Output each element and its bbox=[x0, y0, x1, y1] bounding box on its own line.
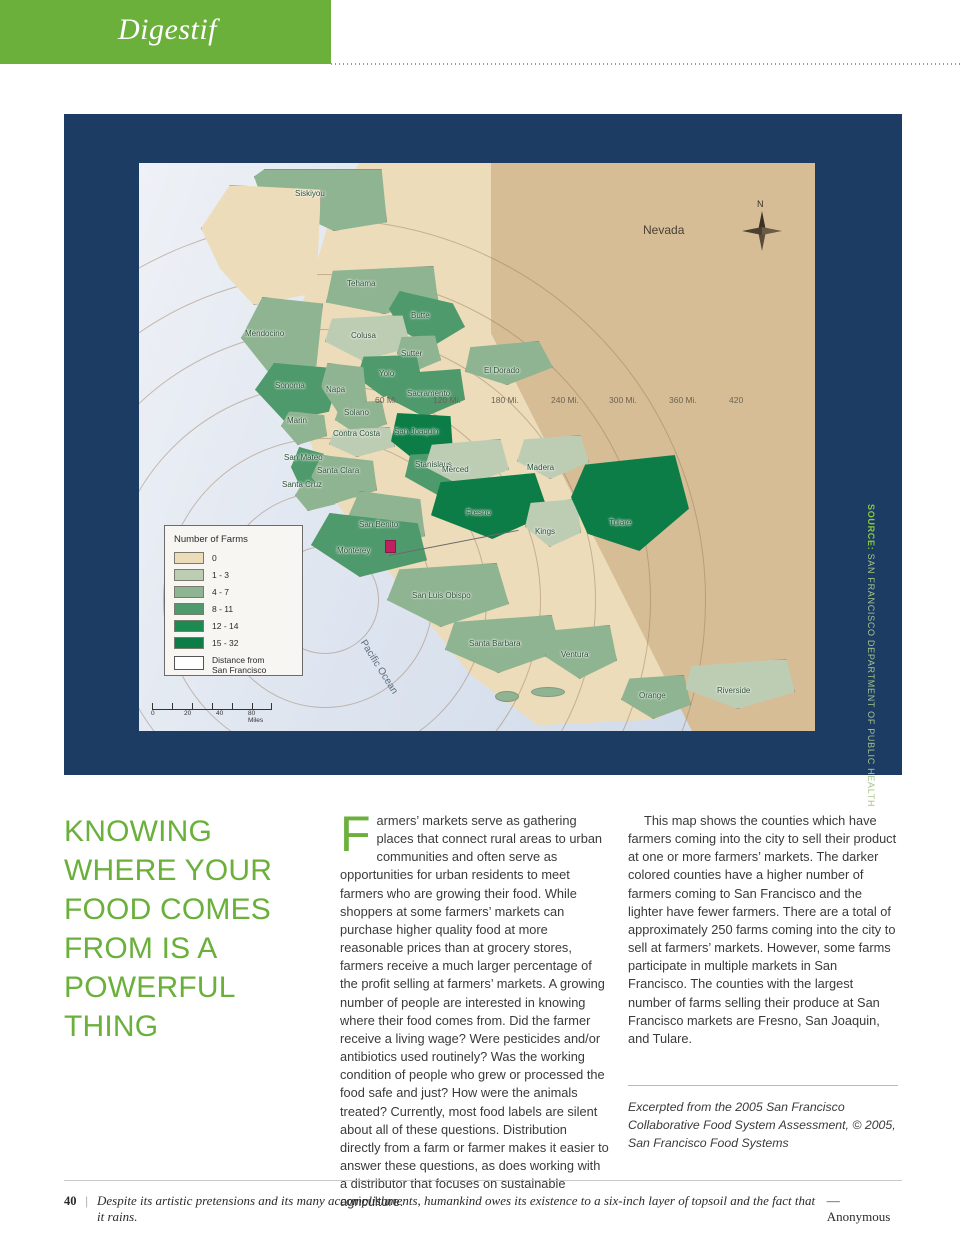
county-label-sonoma: Sonoma bbox=[275, 381, 305, 390]
compass-north-label: N bbox=[757, 199, 764, 209]
legend-row-0: 0 bbox=[174, 550, 293, 565]
page-footer: 40 | Despite its artistic pretensions an… bbox=[64, 1193, 902, 1225]
legend-label-4: 12 - 14 bbox=[212, 621, 238, 631]
page-header: Digestif bbox=[0, 0, 960, 70]
article-column-1: Farmers’ markets serve as gathering plac… bbox=[340, 812, 610, 1211]
island-channel-2 bbox=[531, 687, 565, 697]
legend-swatch-4 bbox=[174, 620, 204, 632]
legend-row-4: 12 - 14 bbox=[174, 618, 293, 633]
source-value: SAN FRANCISCO DEPARTMENT OF PUBLIC HEALT… bbox=[866, 550, 876, 807]
state-label-nevada: Nevada bbox=[643, 223, 684, 237]
header-dotted-rule bbox=[331, 63, 960, 65]
legend-label-0: 0 bbox=[212, 553, 217, 563]
legend-row-1: 1 - 3 bbox=[174, 567, 293, 582]
legend-row-3: 8 - 11 bbox=[174, 601, 293, 616]
county-label-santa-barbara: Santa Barbara bbox=[469, 639, 521, 648]
legend-row-2: 4 - 7 bbox=[174, 584, 293, 599]
ring-label-420: 420 bbox=[729, 395, 743, 405]
county-label-napa: Napa bbox=[326, 385, 345, 394]
source-key: SOURCE: bbox=[866, 504, 876, 550]
section-title: Digestif bbox=[118, 13, 217, 47]
ring-label-60: 60 Mi. bbox=[375, 395, 398, 405]
article-credit: Excerpted from the 2005 San Francisco Co… bbox=[628, 1099, 898, 1152]
footer-quote: Despite its artistic pretensions and its… bbox=[97, 1193, 822, 1225]
legend-swatch-3 bbox=[174, 603, 204, 615]
county-label-yolo: Yolo bbox=[379, 369, 394, 378]
county-label-butte: Butte bbox=[411, 311, 430, 320]
article-paragraph-2: This map shows the counties which have f… bbox=[628, 812, 898, 1048]
county-label-contra-costa: Contra Costa bbox=[333, 429, 380, 438]
legend-label-2: 4 - 7 bbox=[212, 587, 229, 597]
ring-label-240: 240 Mi. bbox=[551, 395, 579, 405]
county-label-marin: Marin bbox=[287, 416, 307, 425]
legend-swatch-2 bbox=[174, 586, 204, 598]
legend-row-distance: Distance from San Francisco bbox=[174, 656, 293, 676]
county-label-ventura: Ventura bbox=[561, 650, 589, 659]
scale-unit-label: 80 Miles bbox=[248, 710, 272, 724]
ring-label-360: 360 Mi. bbox=[669, 395, 697, 405]
legend-label-1: 1 - 3 bbox=[212, 570, 229, 580]
county-label-tehama: Tehama bbox=[347, 279, 375, 288]
map-legend: Number of Farms 0 1 - 3 4 - 7 8 - 11 12 … bbox=[164, 525, 303, 676]
article-paragraph-1: Farmers’ markets serve as gathering plac… bbox=[340, 812, 610, 1211]
county-label-orange: Orange bbox=[639, 691, 666, 700]
scale-bar-line bbox=[152, 703, 272, 710]
legend-swatch-1 bbox=[174, 569, 204, 581]
county-label-siskiyou: Siskiyou bbox=[295, 189, 325, 198]
legend-distance-line1: Distance from bbox=[212, 655, 264, 665]
county-label-colusa: Colusa bbox=[351, 331, 376, 340]
county-label-merced: Merced bbox=[442, 465, 469, 474]
county-label-mendocino: Mendocino bbox=[245, 329, 284, 338]
county-label-tulare: Tulare bbox=[609, 518, 631, 527]
county-label-solano: Solano bbox=[344, 408, 369, 417]
county-label-san-benito: San Benito bbox=[359, 520, 398, 529]
county-label-kings: Kings bbox=[535, 527, 555, 536]
legend-label-5: 15 - 32 bbox=[212, 638, 238, 648]
legend-label-distance: Distance from San Francisco bbox=[212, 656, 266, 676]
county-label-san-mateo: San Mateo bbox=[284, 453, 323, 462]
scale-tick-20: 20 bbox=[184, 710, 191, 717]
county-label-san-joaquin: San Joaquin bbox=[394, 427, 438, 436]
county-label-riverside: Riverside bbox=[717, 686, 750, 695]
map-figure: Siskiyou Tehama Butte Colusa Sutter Mend… bbox=[64, 114, 902, 775]
ring-label-180: 180 Mi. bbox=[491, 395, 519, 405]
figure-source-credit: SOURCE: SAN FRANCISCO DEPARTMENT OF PUBL… bbox=[866, 504, 876, 807]
article-headline: KNOWING WHERE YOUR FOOD COMES FROM IS A … bbox=[64, 812, 326, 1046]
county-label-madera: Madera bbox=[527, 463, 554, 472]
compass-rose-icon: N bbox=[742, 201, 782, 251]
footer-attribution: — Anonymous bbox=[827, 1193, 902, 1225]
legend-label-3: 8 - 11 bbox=[212, 604, 233, 614]
footer-separator: | bbox=[86, 1194, 89, 1209]
ring-label-300: 300 Mi. bbox=[609, 395, 637, 405]
county-label-santa-clara: Santa Clara bbox=[317, 466, 359, 475]
drop-cap: F bbox=[340, 812, 377, 855]
legend-swatch-0 bbox=[174, 552, 204, 564]
county-label-sutter: Sutter bbox=[401, 349, 422, 358]
scale-bar-labels: 0 20 40 80 Miles bbox=[152, 710, 272, 720]
legend-distance-line2: San Francisco bbox=[212, 665, 266, 675]
footer-divider bbox=[64, 1180, 902, 1181]
article-column-2: This map shows the counties which have f… bbox=[628, 812, 898, 1048]
legend-swatch-distance bbox=[174, 656, 204, 670]
san-francisco-marker[interactable] bbox=[385, 540, 396, 553]
county-label-san-luis-obispo: San Luis Obispo bbox=[412, 591, 471, 600]
legend-row-5: 15 - 32 bbox=[174, 635, 293, 650]
county-label-santa-cruz: Santa Cruz bbox=[282, 480, 322, 489]
county-label-fresno: Fresno bbox=[466, 508, 491, 517]
map-scale-bar: 0 20 40 80 Miles bbox=[152, 703, 272, 720]
county-label-el-dorado: El Dorado bbox=[484, 366, 520, 375]
county-label-monterey: Monterey bbox=[337, 546, 370, 555]
scale-tick-40: 40 bbox=[216, 710, 223, 717]
scale-tick-0: 0 bbox=[151, 710, 155, 717]
page-number: 40 bbox=[64, 1194, 77, 1209]
article-paragraph-1-text: armers’ markets serve as gathering place… bbox=[340, 813, 609, 1209]
legend-title: Number of Farms bbox=[174, 534, 293, 545]
island-channel-1 bbox=[495, 691, 519, 702]
choropleth-map[interactable]: Siskiyou Tehama Butte Colusa Sutter Mend… bbox=[139, 163, 815, 731]
credit-divider bbox=[628, 1085, 898, 1086]
ring-label-120: 120 Mi. bbox=[433, 395, 461, 405]
legend-swatch-5 bbox=[174, 637, 204, 649]
